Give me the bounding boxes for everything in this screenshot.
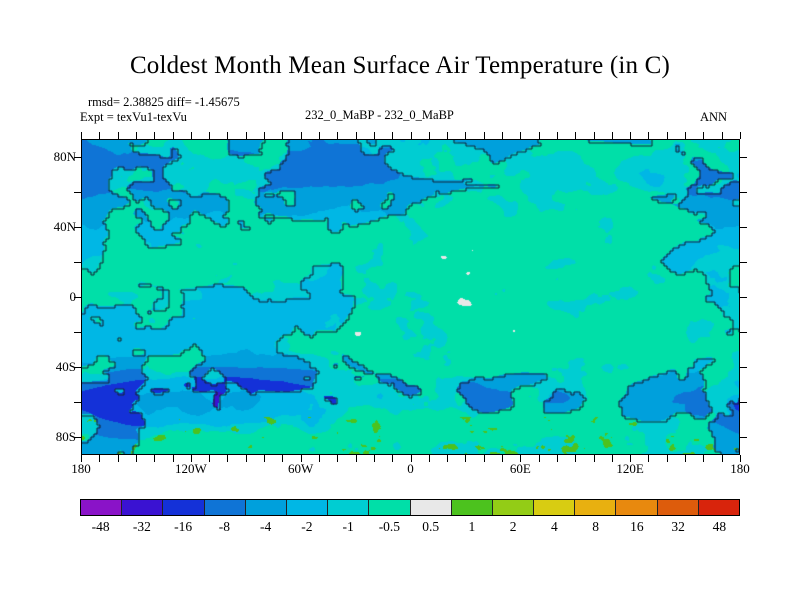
- y-tick-minor: [740, 297, 747, 298]
- x-axis-label-120W: 120W: [156, 461, 226, 477]
- x-tick-minor: [667, 132, 668, 139]
- x-tick-minor: [136, 132, 137, 139]
- y-tick-minor: [74, 402, 81, 403]
- x-tick-minor: [154, 132, 155, 139]
- colorbar-band-7: [369, 500, 410, 515]
- x-tick-minor: [411, 132, 412, 139]
- x-tick-minor: [594, 132, 595, 139]
- x-axis-label-60W: 60W: [266, 461, 336, 477]
- x-tick-minor: [227, 455, 228, 462]
- x-tick-minor: [539, 132, 540, 139]
- x-tick-minor: [356, 132, 357, 139]
- x-axis-label-120E: 120E: [595, 461, 665, 477]
- x-tick-minor: [447, 455, 448, 462]
- y-tick-minor: [740, 227, 747, 228]
- x-axis-label-60E: 60E: [485, 461, 555, 477]
- y-tick-minor: [740, 332, 747, 333]
- x-tick-minor: [356, 455, 357, 462]
- x-axis-label-180: 180: [705, 461, 775, 477]
- colorbar-tick-48: 48: [694, 519, 744, 535]
- x-tick-minor: [703, 132, 704, 139]
- x-tick-minor: [667, 455, 668, 462]
- x-tick-minor: [648, 132, 649, 139]
- colorbar-band-2: [163, 500, 204, 515]
- x-tick-minor: [173, 132, 174, 139]
- x-tick-minor: [575, 132, 576, 139]
- x-tick-minor: [81, 132, 82, 139]
- colorbar-band-11: [534, 500, 575, 515]
- y-tick-minor: [740, 192, 747, 193]
- y-tick-minor: [74, 192, 81, 193]
- x-tick-minor: [685, 455, 686, 462]
- x-tick-minor: [319, 132, 320, 139]
- colorbar-band-6: [328, 500, 369, 515]
- x-tick-minor: [118, 455, 119, 462]
- y-tick-minor: [740, 437, 747, 438]
- y-tick-minor: [740, 402, 747, 403]
- x-tick-minor: [282, 132, 283, 139]
- x-tick-minor: [374, 132, 375, 139]
- y-axis-label-40S: 40S: [16, 359, 76, 375]
- x-axis-label-180: 180: [46, 461, 116, 477]
- x-tick-minor: [337, 455, 338, 462]
- x-tick-minor: [630, 132, 631, 139]
- y-tick-minor: [740, 367, 747, 368]
- temperature-difference-map: [82, 140, 740, 455]
- y-tick-minor: [740, 157, 747, 158]
- x-tick-minor: [557, 455, 558, 462]
- map-plot-area: [81, 139, 740, 455]
- colorbar-band-15: [699, 500, 739, 515]
- x-tick-minor: [209, 132, 210, 139]
- colorbar-band-9: [452, 500, 493, 515]
- y-axis-label-80S: 80S: [16, 429, 76, 445]
- x-tick-minor: [740, 132, 741, 139]
- dataset-comparison-label: 232_0_MaBP - 232_0_MaBP: [305, 108, 454, 123]
- rmsd-statistics-label: rmsd= 2.38825 diff= -1.45675: [88, 95, 240, 110]
- x-tick-minor: [612, 132, 613, 139]
- x-tick-minor: [447, 132, 448, 139]
- x-tick-minor: [575, 455, 576, 462]
- x-tick-minor: [465, 132, 466, 139]
- colorbar-band-10: [493, 500, 534, 515]
- x-tick-minor: [392, 132, 393, 139]
- y-axis-label-0: 0: [16, 289, 76, 305]
- y-axis-label-80N: 80N: [16, 149, 76, 165]
- x-tick-minor: [191, 132, 192, 139]
- season-label: ANN: [700, 110, 727, 125]
- colorbar-band-14: [658, 500, 699, 515]
- colorbar-band-0: [81, 500, 122, 515]
- y-axis-label-40N: 40N: [16, 219, 76, 235]
- x-tick-minor: [227, 132, 228, 139]
- x-tick-minor: [136, 455, 137, 462]
- y-tick-minor: [74, 332, 81, 333]
- y-tick-minor: [740, 262, 747, 263]
- figure-root: Coldest Month Mean Surface Air Temperatu…: [0, 0, 800, 600]
- colorbar-band-5: [287, 500, 328, 515]
- x-axis-label-0: 0: [376, 461, 446, 477]
- x-tick-minor: [337, 132, 338, 139]
- x-tick-minor: [301, 132, 302, 139]
- colorbar-band-8: [411, 500, 452, 515]
- experiment-label: Expt = texVu1-texVu: [80, 110, 187, 125]
- x-tick-minor: [429, 132, 430, 139]
- colorbar-band-3: [205, 500, 246, 515]
- colorbar-band-13: [616, 500, 657, 515]
- x-tick-minor: [465, 455, 466, 462]
- x-tick-minor: [264, 132, 265, 139]
- colorbar: [80, 499, 740, 516]
- colorbar-band-12: [575, 500, 616, 515]
- x-tick-minor: [484, 132, 485, 139]
- colorbar-band-4: [246, 500, 287, 515]
- x-tick-minor: [685, 132, 686, 139]
- figure-title: Coldest Month Mean Surface Air Temperatu…: [0, 52, 800, 80]
- x-tick-minor: [520, 132, 521, 139]
- x-tick-minor: [246, 132, 247, 139]
- colorbar-band-1: [122, 500, 163, 515]
- x-tick-minor: [118, 132, 119, 139]
- x-tick-minor: [99, 132, 100, 139]
- x-tick-minor: [722, 132, 723, 139]
- x-tick-minor: [557, 132, 558, 139]
- x-tick-minor: [246, 455, 247, 462]
- y-tick-minor: [74, 262, 81, 263]
- x-tick-minor: [502, 132, 503, 139]
